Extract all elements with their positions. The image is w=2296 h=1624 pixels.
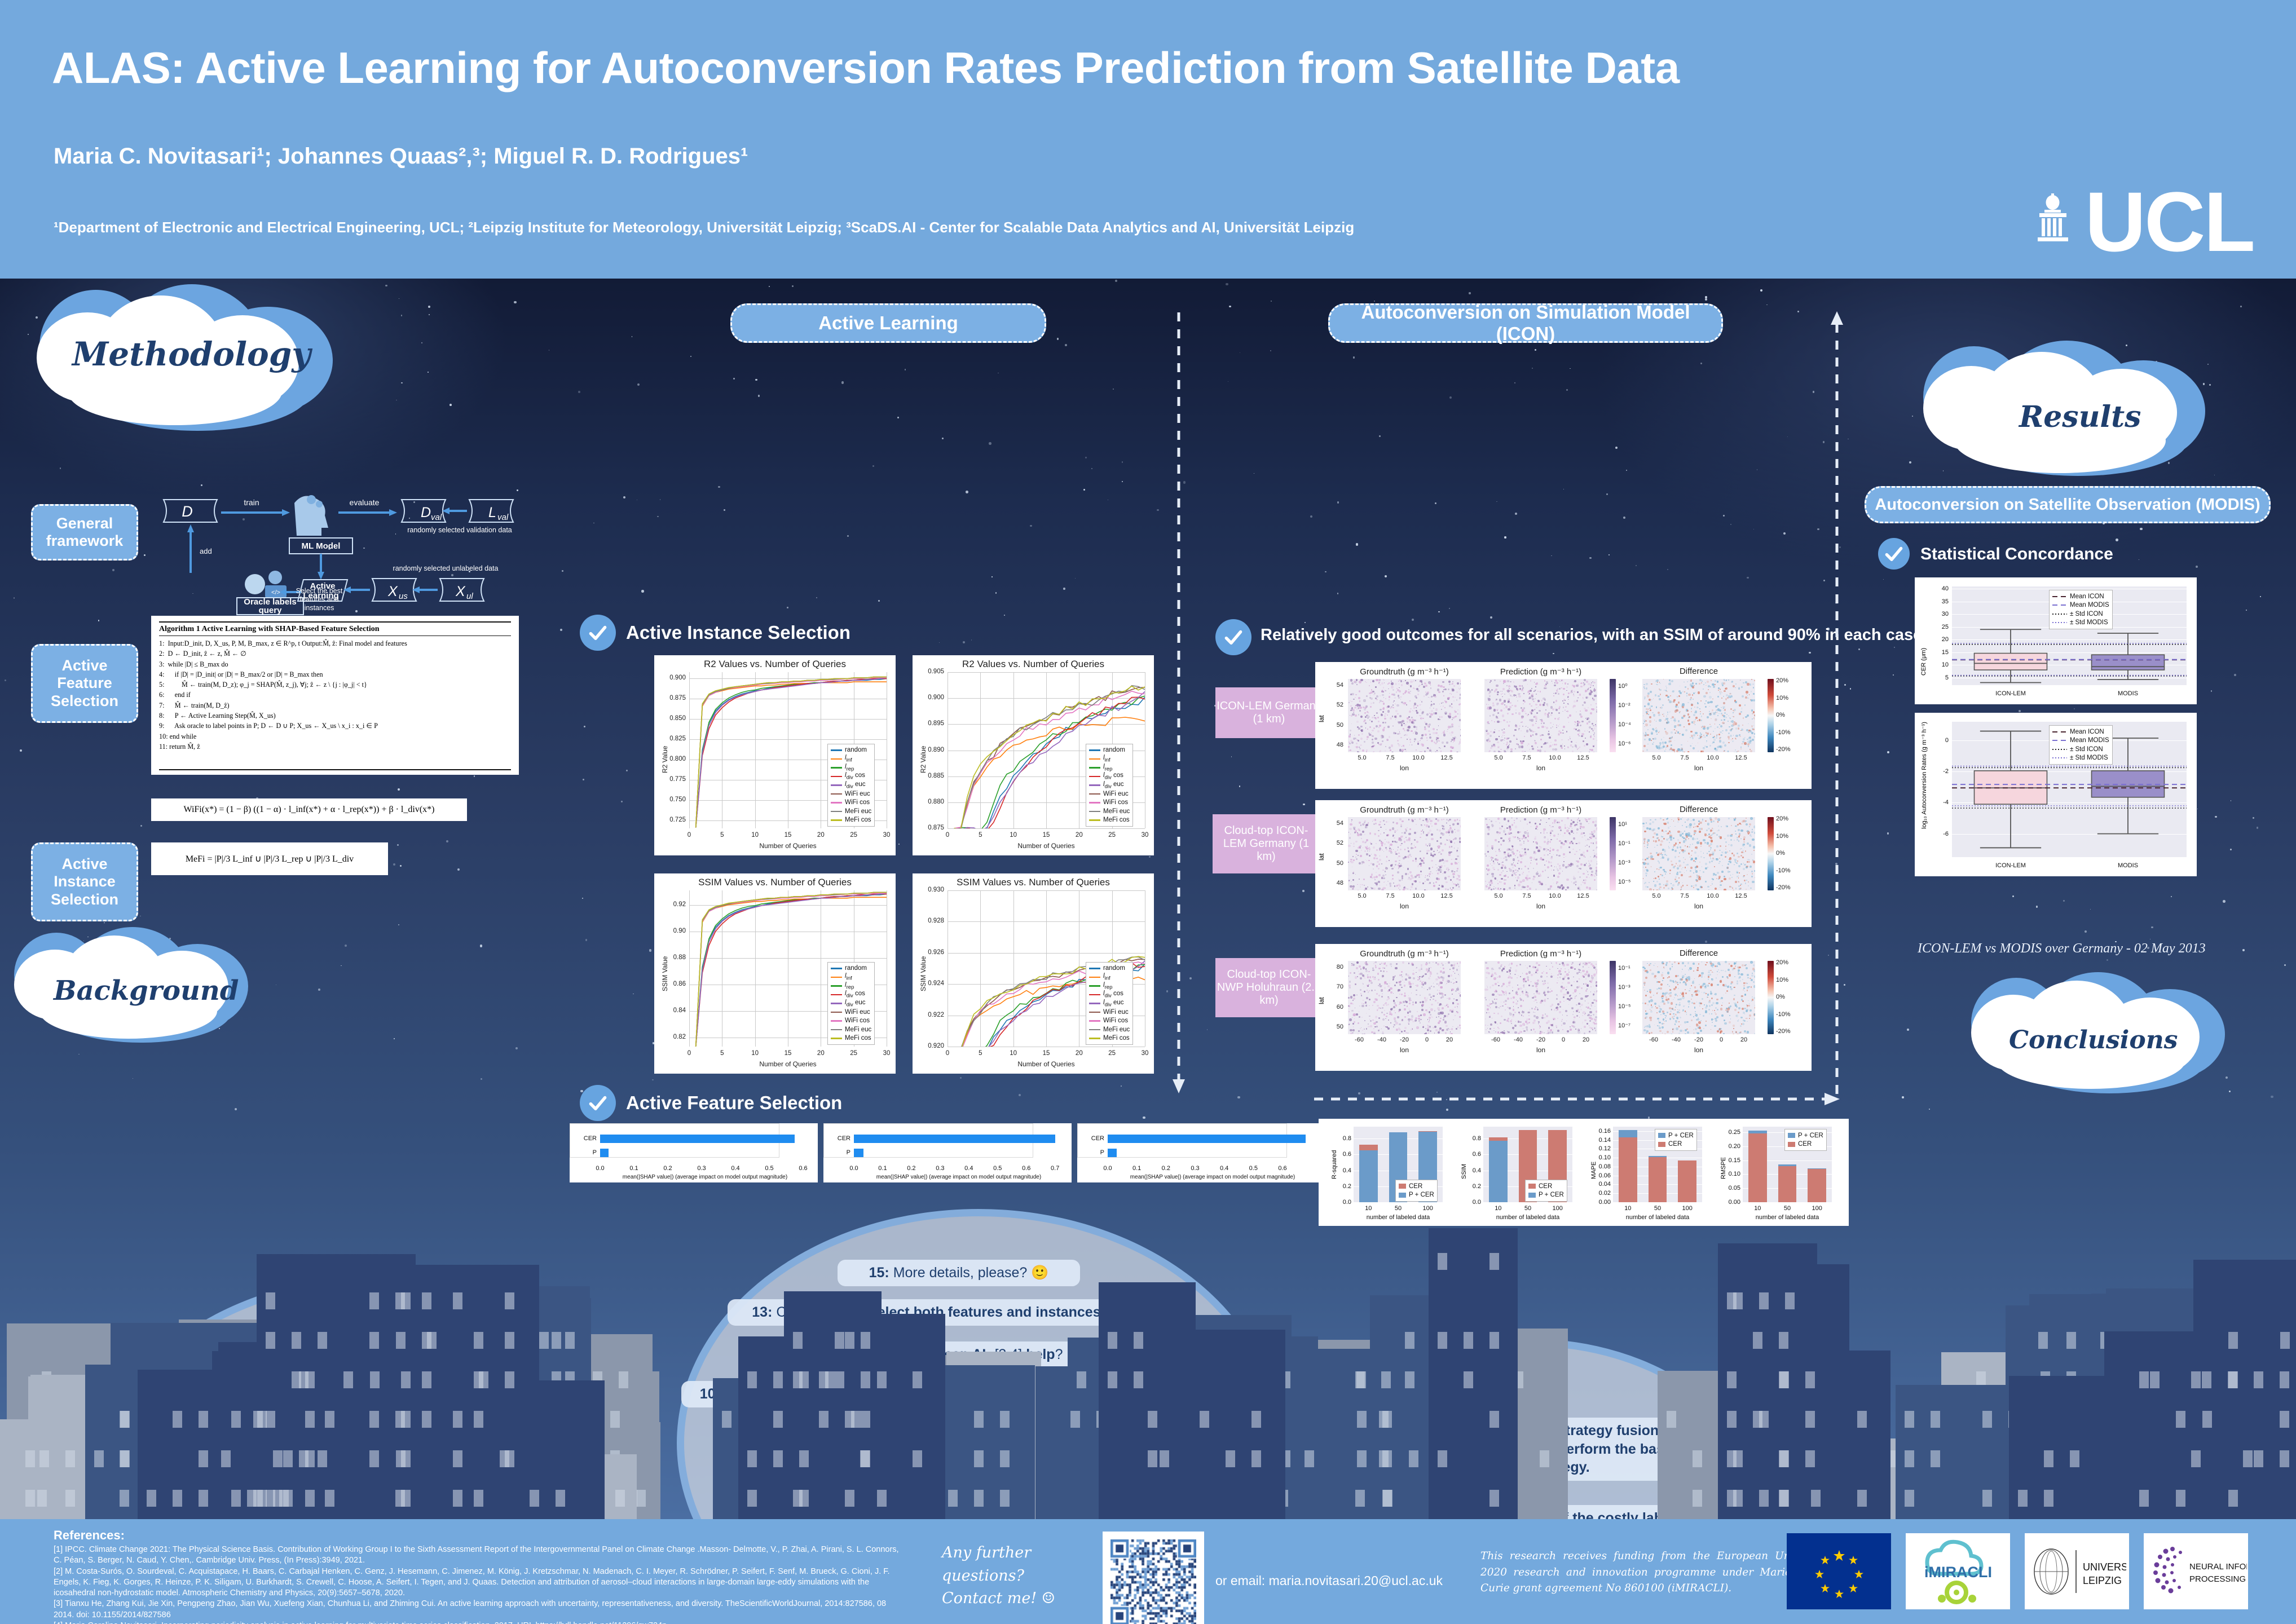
map-colorbar-tick: 10⁻⁵ bbox=[1618, 879, 1631, 885]
legend-label: P + CER bbox=[1539, 1191, 1564, 1198]
legend-row: lrep bbox=[1089, 764, 1130, 773]
legend-row: ldiv euc bbox=[1089, 999, 1130, 1008]
svg-text:</>: </> bbox=[271, 589, 280, 596]
bar-x-tick: 50 bbox=[1644, 1205, 1672, 1212]
bar bbox=[1489, 1141, 1508, 1202]
map-image bbox=[1348, 817, 1461, 890]
map-image bbox=[1642, 679, 1755, 752]
legend-row: CER bbox=[1658, 1140, 1694, 1149]
bar-y-axis-label: RMSPE bbox=[1720, 1157, 1727, 1179]
map-x-tick: -60 bbox=[1348, 1037, 1370, 1043]
map-y-tick: 54 bbox=[1323, 682, 1343, 689]
legend-label: WiFi euc bbox=[845, 1009, 870, 1016]
bar-x-tick: 100 bbox=[1414, 1205, 1442, 1212]
legend-swatch bbox=[1089, 767, 1100, 769]
bar-x-tick: 100 bbox=[1803, 1205, 1831, 1212]
map-x-tick: 0 bbox=[1552, 1037, 1575, 1043]
legend-swatch bbox=[831, 758, 842, 760]
svg-text:iMIRACLI: iMIRACLI bbox=[1924, 1564, 1992, 1581]
map-y-tick: 60 bbox=[1323, 1004, 1343, 1010]
legend-label: MeFi euc bbox=[1103, 808, 1130, 815]
contact-line-2: Contact me! ☺ bbox=[942, 1587, 1105, 1610]
legend-swatch bbox=[1089, 985, 1100, 987]
svg-text:query: query bbox=[259, 606, 283, 615]
modis-subhead: Statistical Concordance bbox=[1920, 545, 2113, 564]
legend-label: WiFi cos bbox=[1103, 799, 1128, 806]
svg-text:ML Model: ML Model bbox=[302, 541, 341, 551]
legend-row: linf bbox=[1089, 754, 1130, 764]
poster-footer: References: [1] IPCC. Climate Change 202… bbox=[0, 1519, 2296, 1624]
map-colorbar-tick: 10% bbox=[1776, 695, 1788, 701]
map-colorbar-tick: 10⁻¹ bbox=[1618, 841, 1630, 847]
reference-item: [4] Maria Carolina Novitasari. Incorpora… bbox=[54, 1621, 900, 1624]
legend-row: ± Std ICON bbox=[2052, 610, 2109, 619]
legend-label: lrep bbox=[1103, 764, 1112, 772]
legend-swatch bbox=[1399, 1184, 1406, 1189]
x-tick-label: 0.2 bbox=[904, 1165, 919, 1172]
svg-text:val: val bbox=[497, 513, 509, 522]
results-cloud: Results bbox=[1912, 341, 2239, 482]
map-y-tick: 50 bbox=[1323, 1024, 1343, 1030]
legend-row: MeFi euc bbox=[831, 807, 871, 816]
box-category-label: ICON-LEM bbox=[1977, 862, 2044, 869]
legend-swatch bbox=[831, 819, 842, 821]
map-x-tick: 10.0 bbox=[1544, 893, 1566, 899]
bar-y-tick: 0.16 bbox=[1588, 1128, 1611, 1135]
algorithm-line: 10: end while bbox=[159, 731, 511, 742]
algorithm-line: 3: while |D| ≤ B_max do bbox=[159, 659, 511, 669]
legend-row: lrep bbox=[1089, 982, 1130, 991]
legend-swatch bbox=[1089, 749, 1100, 751]
algorithm-body: 1: Input:D_init, D, X_us, P, M, B_max, z… bbox=[159, 636, 511, 752]
map-x-tick: 5.0 bbox=[1487, 893, 1510, 899]
icon-row-label-1: ICON-LEM Germany (1 km) bbox=[1215, 687, 1323, 738]
map-x-tick: 5.0 bbox=[1351, 893, 1373, 899]
map-colorbar-tick: 10¹ bbox=[1618, 822, 1627, 828]
shap-category-label: P bbox=[827, 1149, 850, 1156]
legend-swatch bbox=[831, 985, 842, 987]
mefi-formula: MeFi = |P|/3 L_inf ∪ |P|/3 L_rep ∪ |P|/3… bbox=[186, 853, 354, 864]
bar-y-tick: 0.00 bbox=[1588, 1199, 1611, 1206]
legend-row: ± Std MODIS bbox=[2052, 619, 2109, 628]
x-tick-label: 0.0 bbox=[846, 1165, 862, 1172]
flow-arrow-up bbox=[1828, 295, 1845, 1107]
legend-label: MeFi euc bbox=[845, 808, 871, 815]
svg-text:Select the best: Select the best bbox=[296, 587, 343, 595]
x-tick-label: 0.7 bbox=[1047, 1165, 1063, 1172]
map-panel-title: Difference bbox=[1623, 805, 1775, 814]
legend-swatch bbox=[1658, 1142, 1665, 1147]
icon-section-banner: Autoconversion on Simulation Model (ICON… bbox=[1328, 303, 1723, 343]
map-x-tick: 0 bbox=[1416, 1037, 1438, 1043]
metrics-bar-card: 0.00.20.40.60.81050100number of labeled … bbox=[1319, 1119, 1849, 1226]
map-x-axis-label: lon bbox=[1348, 765, 1461, 771]
legend-row: WiFi cos bbox=[1089, 798, 1130, 807]
bar bbox=[1619, 1137, 1637, 1202]
legend-row: CER bbox=[1788, 1140, 1823, 1149]
section-subtitle: Active Feature Selection bbox=[626, 1092, 842, 1114]
algorithm-line: 1: Input:D_init, D, X_us, P, M, B_max, z… bbox=[159, 638, 511, 648]
legend-row: ldiv euc bbox=[831, 781, 871, 790]
map-x-tick: 10.0 bbox=[1407, 893, 1430, 899]
bubble-number: 15: bbox=[869, 1265, 889, 1281]
chart-card-r2-zoom: R2 Values vs. Number of Queries0.8750.88… bbox=[913, 655, 1154, 855]
legend-row: P + CER bbox=[1399, 1191, 1434, 1200]
svg-text:randomly selected unlabeled da: randomly selected unlabeled data bbox=[393, 564, 499, 572]
conclusions-cloud-label: Conclusions bbox=[2009, 1026, 2178, 1054]
legend-label: ldiv euc bbox=[1103, 781, 1124, 789]
contact-line-1: Any further questions? bbox=[942, 1542, 1105, 1587]
results-cloud-label: Results bbox=[2019, 400, 2141, 434]
map-panel-title: Prediction (g m⁻³ h⁻¹) bbox=[1465, 948, 1617, 959]
contact-block: Any further questions? Contact me! ☺ bbox=[942, 1542, 1105, 1610]
legend-label: WiFi euc bbox=[1103, 1009, 1129, 1016]
map-x-tick: -60 bbox=[1484, 1037, 1507, 1043]
bar-legend: P + CERCER bbox=[1784, 1129, 1827, 1151]
legend-label: P + CER bbox=[1798, 1132, 1823, 1139]
legend-label: MeFi cos bbox=[845, 817, 871, 823]
svg-text:instances: instances bbox=[305, 604, 334, 612]
bar-legend: P + CERCER bbox=[1655, 1129, 1697, 1151]
legend-row: random bbox=[1089, 746, 1130, 755]
qr-code[interactable] bbox=[1103, 1532, 1204, 1624]
algorithm-box: Algorithm 1 Active Learning with SHAP-Ba… bbox=[151, 616, 519, 775]
legend-row: MeFi cos bbox=[831, 1034, 871, 1043]
legend-swatch bbox=[1089, 977, 1100, 978]
legend-swatch bbox=[831, 784, 842, 786]
map-colorbar-tick: 10⁻⁵ bbox=[1618, 1004, 1631, 1010]
map-colorbar-tick: 20% bbox=[1776, 816, 1788, 822]
map-x-tick: 20 bbox=[1733, 1037, 1755, 1043]
banner-label: Active Learning bbox=[818, 312, 958, 334]
legend-row: WiFi euc bbox=[1089, 789, 1130, 798]
map-x-tick: -20 bbox=[1393, 1037, 1416, 1043]
bubble-number: 13: bbox=[752, 1304, 772, 1320]
legend-label: MeFi euc bbox=[1103, 1026, 1130, 1033]
map-x-tick: 12.5 bbox=[1730, 755, 1752, 761]
legend-swatch bbox=[2052, 612, 2067, 616]
map-y-tick: 80 bbox=[1323, 964, 1343, 970]
map-x-tick: 7.5 bbox=[1379, 893, 1402, 899]
x-tick-label: 0.3 bbox=[932, 1165, 948, 1172]
legend-label: Mean MODIS bbox=[2070, 737, 2109, 744]
map-y-tick: 52 bbox=[1323, 702, 1343, 708]
legend-row: ± Std MODIS bbox=[2052, 754, 2109, 763]
legend-swatch bbox=[1089, 1012, 1100, 1013]
shap-category-label: CER bbox=[827, 1135, 850, 1142]
map-x-tick: 12.5 bbox=[1572, 893, 1594, 899]
legend-label: ± Std ICON bbox=[2070, 611, 2103, 617]
row-label-text: Cloud-top ICON-NWP Holuhraun (2.5 km) bbox=[1215, 968, 1323, 1007]
x-tick-label: 0.1 bbox=[626, 1165, 642, 1172]
legend-label: lrep bbox=[1103, 982, 1112, 990]
algorithm-line: 9: Ask oracle to label points in P; D ← … bbox=[159, 721, 511, 731]
legend-label: ldiv cos bbox=[1103, 772, 1123, 780]
legend-label: P + CER bbox=[1668, 1132, 1694, 1139]
algorithm-line: 2: D ← D_init, ẑ ← z, M̂ ← ∅ bbox=[159, 648, 511, 659]
map-x-tick: -40 bbox=[1665, 1037, 1687, 1043]
legend-label: CER bbox=[1409, 1183, 1422, 1190]
neurips-logo: NEURAL INFORMATION PROCESSING SYSTEMS bbox=[2144, 1533, 2248, 1609]
legend-row: random bbox=[831, 746, 871, 755]
bar bbox=[1808, 1169, 1826, 1202]
x-tick-label: 0.0 bbox=[1100, 1165, 1116, 1172]
legend-swatch bbox=[831, 802, 842, 804]
map-colorbar-tick: -10% bbox=[1776, 1012, 1791, 1018]
map-image bbox=[1484, 961, 1597, 1034]
legend-row: WiFi cos bbox=[831, 1017, 871, 1026]
flow-arrow-right bbox=[1314, 1091, 1844, 1107]
x-tick-label: 0.5 bbox=[761, 1165, 777, 1172]
wifi-formula-box: WiFi(x*) = (1 − β) ((1 − α) · l_inf(x*) … bbox=[151, 798, 467, 821]
map-image bbox=[1642, 961, 1755, 1034]
boxplot-card-cer: 510152025303540CER (μm)ICON-LEMMODISMean… bbox=[1915, 577, 2197, 704]
reference-item: [2] M. Costa-Surós, O. Sourdeval, C. Acq… bbox=[54, 1566, 900, 1599]
legend-row: ldiv euc bbox=[831, 999, 871, 1008]
banner-label: Autoconversion on Satellite Observation … bbox=[1875, 496, 2260, 514]
legend-swatch bbox=[831, 1020, 842, 1022]
legend-swatch bbox=[2052, 603, 2067, 607]
legend-label: ldiv cos bbox=[845, 772, 865, 780]
bar bbox=[1678, 1160, 1696, 1202]
map-x-tick: 7.5 bbox=[1515, 755, 1538, 761]
map-x-axis-label: lon bbox=[1348, 903, 1461, 910]
shap-category-label: P bbox=[1081, 1149, 1104, 1156]
map-x-axis-label: lon bbox=[1642, 1047, 1755, 1053]
svg-text:X: X bbox=[455, 584, 466, 599]
legend-label: random bbox=[1103, 965, 1125, 972]
legend-row: P + CER bbox=[1528, 1191, 1564, 1200]
boxplot-card-autoconv: 0-2-4-6log₁₀ Autoconversion Rates (g m⁻³… bbox=[1915, 713, 2197, 876]
map-colorbar-tick: 10⁻⁴ bbox=[1618, 722, 1631, 728]
bar-x-tick: 10 bbox=[1614, 1205, 1642, 1212]
map-x-tick: 7.5 bbox=[1515, 893, 1538, 899]
universitat-leipzig-logo: UNIVERSITÄT LEIPZIG bbox=[2025, 1533, 2129, 1609]
map-colorbar-tick: -20% bbox=[1776, 747, 1791, 753]
chip-active-instance-selection[interactable]: Active Instance Selection bbox=[31, 842, 138, 921]
map-panel-title: Groundtruth (g m⁻³ h⁻¹) bbox=[1328, 667, 1480, 677]
bar-y-tick: 0.05 bbox=[1718, 1185, 1740, 1191]
icon-row-label-3: Cloud-top ICON-NWP Holuhraun (2.5 km) bbox=[1215, 958, 1323, 1017]
bar-y-tick: 0.8 bbox=[1329, 1135, 1351, 1142]
shap-bar bbox=[1108, 1135, 1306, 1143]
speech-bubble[interactable]: 15: More details, please? 🙂 bbox=[838, 1260, 1080, 1286]
legend-label: P + CER bbox=[1409, 1191, 1434, 1198]
reference-item: [1] IPCC. Climate Change 2021: The Physi… bbox=[54, 1544, 900, 1566]
map-x-tick: -60 bbox=[1642, 1037, 1665, 1043]
reference-item: [3] Tianxu He, Zhang Kui, Jie Xin, Pengp… bbox=[54, 1599, 900, 1621]
map-x-tick: 5.0 bbox=[1645, 755, 1668, 761]
legend-row: Mean MODIS bbox=[2052, 736, 2109, 745]
x-tick-label: 0.2 bbox=[1158, 1165, 1174, 1172]
map-x-tick: 0 bbox=[1710, 1037, 1733, 1043]
legend-label: WiFi cos bbox=[845, 1017, 870, 1024]
map-colorbar-tick: 0% bbox=[1776, 994, 1785, 1000]
x-tick-label: 0.0 bbox=[592, 1165, 608, 1172]
legend-label: Mean MODIS bbox=[2070, 602, 2109, 608]
legend-swatch bbox=[1089, 758, 1100, 760]
map-image bbox=[1484, 817, 1597, 890]
map-panel-title: Prediction (g m⁻³ h⁻¹) bbox=[1465, 667, 1617, 677]
legend-row: MeFi cos bbox=[831, 816, 871, 825]
methodology-cloud: Methodology bbox=[17, 284, 367, 436]
map-image bbox=[1484, 679, 1597, 752]
map-x-tick: -40 bbox=[1370, 1037, 1393, 1043]
map-x-tick: 20 bbox=[1438, 1037, 1461, 1043]
map-y-axis-label: lat bbox=[1317, 997, 1325, 1004]
algorithm-line: 8: P ← Active Learning Step(M̂, X_us) bbox=[159, 710, 511, 721]
legend-swatch bbox=[1089, 994, 1100, 996]
legend-label: ± Std MODIS bbox=[2070, 754, 2108, 761]
legend-label: WiFi euc bbox=[1103, 791, 1129, 797]
legend-swatch bbox=[1399, 1193, 1406, 1198]
chip-active-feature-selection[interactable]: Active Feature Selection bbox=[31, 644, 138, 723]
section-subtitle: Active Instance Selection bbox=[626, 622, 850, 643]
svg-text:ul: ul bbox=[466, 592, 473, 601]
chart-legend: randomlinflrepldiv cosldiv eucWiFi eucWi… bbox=[827, 962, 875, 1045]
map-x-tick: -20 bbox=[1687, 1037, 1710, 1043]
legend-swatch bbox=[1089, 968, 1100, 969]
legend-swatch bbox=[831, 749, 842, 751]
legend-swatch bbox=[2052, 747, 2067, 752]
legend-swatch bbox=[1089, 1029, 1100, 1031]
map-x-tick: 12.5 bbox=[1435, 893, 1458, 899]
legend-label: lrep bbox=[845, 982, 854, 990]
background-cloud-label: Background bbox=[54, 975, 239, 1007]
shap-bar bbox=[854, 1135, 1055, 1143]
svg-text:NEURAL INFORMATION: NEURAL INFORMATION bbox=[2189, 1562, 2247, 1572]
map-colorbar-main bbox=[1610, 961, 1616, 1034]
legend-label: CER bbox=[1539, 1183, 1552, 1190]
eu-flag-logo bbox=[1787, 1533, 1891, 1609]
contact-email[interactable]: or email: maria.novitasari.20@ucl.ac.uk bbox=[1215, 1573, 1443, 1588]
chip-general-framework[interactable]: General framework bbox=[31, 504, 138, 561]
legend-label: ldiv euc bbox=[1103, 999, 1124, 1008]
map-x-tick: -20 bbox=[1530, 1037, 1552, 1043]
map-colorbar-tick: -20% bbox=[1776, 885, 1791, 891]
legend-row: WiFi euc bbox=[831, 789, 871, 798]
map-x-tick: 10.0 bbox=[1702, 755, 1724, 761]
map-colorbar-tick: 10% bbox=[1776, 977, 1788, 983]
boxplot-legend: Mean ICONMean MODIS± Std ICON± Std MODIS bbox=[2049, 590, 2113, 629]
legend-swatch bbox=[1089, 784, 1100, 786]
legend-swatch bbox=[831, 994, 842, 996]
svg-text:features and: features and bbox=[299, 595, 339, 603]
x-tick-label: 0.2 bbox=[660, 1165, 676, 1172]
legend-swatch bbox=[2052, 620, 2067, 625]
legend-label: WiFi cos bbox=[845, 799, 870, 806]
modis-caption: ICON-LEM vs MODIS over Germany - 02 May … bbox=[1918, 941, 2206, 956]
legend-swatch bbox=[831, 1038, 842, 1039]
shap-category-label: CER bbox=[1081, 1135, 1104, 1142]
x-tick-label: 0.6 bbox=[1275, 1165, 1290, 1172]
icon-map-row-2: Groundtruth (g m⁻³ h⁻¹)5.07.510.012.5lon… bbox=[1315, 800, 1812, 927]
legend-swatch bbox=[1089, 1038, 1100, 1039]
map-y-tick: 48 bbox=[1323, 880, 1343, 886]
legend-row: MeFi cos bbox=[1089, 1034, 1130, 1043]
map-x-tick: 7.5 bbox=[1673, 755, 1696, 761]
box-category-label: MODIS bbox=[2094, 862, 2162, 869]
svg-text:L: L bbox=[488, 505, 496, 520]
map-x-tick: 5.0 bbox=[1645, 893, 1668, 899]
map-x-tick: 10.0 bbox=[1544, 755, 1566, 761]
bar-y-tick: 0.14 bbox=[1588, 1137, 1611, 1144]
general-framework-diagram: D train ML Model evaluate D val L val ra bbox=[152, 487, 547, 617]
map-x-tick: 20 bbox=[1575, 1037, 1597, 1043]
bar-y-tick: 0.04 bbox=[1588, 1181, 1611, 1188]
x-tick-label: 0.1 bbox=[1129, 1165, 1145, 1172]
legend-swatch bbox=[2052, 730, 2067, 734]
map-x-tick: -40 bbox=[1507, 1037, 1530, 1043]
map-x-tick: 10.0 bbox=[1702, 893, 1724, 899]
bar-x-tick: 10 bbox=[1484, 1205, 1512, 1212]
x-tick-label: 0.6 bbox=[1019, 1165, 1034, 1172]
legend-label: random bbox=[1103, 747, 1125, 753]
legend-label: random bbox=[845, 747, 867, 753]
legend-row: P + CER bbox=[1658, 1131, 1694, 1140]
modis-section-banner: Autoconversion on Satellite Observation … bbox=[1865, 486, 2271, 523]
bar bbox=[1748, 1133, 1767, 1202]
map-colorbar-tick: 10⁰ bbox=[1618, 683, 1628, 690]
map-colorbar-tick: 10% bbox=[1776, 833, 1788, 840]
legend-label: CER bbox=[1668, 1141, 1682, 1148]
legend-swatch bbox=[831, 1029, 842, 1031]
map-x-axis-label: lon bbox=[1642, 903, 1755, 910]
x-tick-label: 0.3 bbox=[694, 1165, 709, 1172]
map-y-tick: 48 bbox=[1323, 742, 1343, 748]
map-colorbar-tick: -20% bbox=[1776, 1029, 1791, 1035]
legend-swatch bbox=[1089, 793, 1100, 795]
map-x-tick: 5.0 bbox=[1487, 755, 1510, 761]
imiracli-logo: iMIRACLI bbox=[1906, 1533, 2010, 1609]
map-colorbar-tick: 20% bbox=[1776, 678, 1788, 684]
methodology-cloud-label: Methodology bbox=[72, 335, 311, 373]
map-x-axis-label: lon bbox=[1348, 1047, 1461, 1053]
map-x-tick: 12.5 bbox=[1435, 755, 1458, 761]
legend-label: ldiv cos bbox=[1103, 990, 1123, 999]
bar-y-axis-label: SSIM bbox=[1461, 1164, 1467, 1179]
legend-row: linf bbox=[1089, 973, 1130, 982]
chart-card-ssim-full: SSIM Values vs. Number of Queries0.820.8… bbox=[654, 873, 896, 1074]
map-colorbar-tick: 10⁻³ bbox=[1618, 985, 1630, 991]
map-panel-title: Groundtruth (g m⁻³ h⁻¹) bbox=[1328, 805, 1480, 815]
map-x-tick: 7.5 bbox=[1673, 893, 1696, 899]
legend-row: WiFi cos bbox=[1089, 1017, 1130, 1026]
algorithm-line: 5: M̂ ← train(M, D_z); φ_j = SHAP(M̂, z_… bbox=[159, 679, 511, 690]
legend-row: ± Std ICON bbox=[2052, 745, 2109, 754]
map-colorbar-main bbox=[1610, 679, 1616, 752]
map-panel-title: Difference bbox=[1623, 948, 1775, 958]
legend-row: lrep bbox=[831, 764, 871, 773]
bar-x-tick: 10 bbox=[1355, 1205, 1382, 1212]
bar-y-tick: 0.10 bbox=[1588, 1154, 1611, 1161]
legend-row: MeFi euc bbox=[1089, 807, 1130, 816]
bar-y-tick: 0.0 bbox=[1329, 1199, 1351, 1206]
map-colorbar-diff bbox=[1768, 679, 1774, 752]
legend-row: CER bbox=[1399, 1182, 1434, 1191]
mefi-formula-box: MeFi = |P|/3 L_inf ∪ |P|/3 L_rep ∪ |P|/3… bbox=[151, 842, 388, 875]
map-image bbox=[1348, 961, 1461, 1034]
map-y-axis-label: lat bbox=[1317, 853, 1325, 860]
legend-row: ldiv euc bbox=[1089, 781, 1130, 790]
shap-bar bbox=[1108, 1149, 1117, 1157]
map-x-tick: 12.5 bbox=[1572, 755, 1594, 761]
legend-row: WiFi euc bbox=[1089, 1008, 1130, 1017]
svg-text:X: X bbox=[387, 584, 398, 599]
legend-swatch bbox=[1658, 1133, 1665, 1138]
legend-label: Mean ICON bbox=[2070, 593, 2104, 600]
icon-map-row-1: Groundtruth (g m⁻³ h⁻¹)5.07.510.012.5lon… bbox=[1315, 662, 1812, 789]
